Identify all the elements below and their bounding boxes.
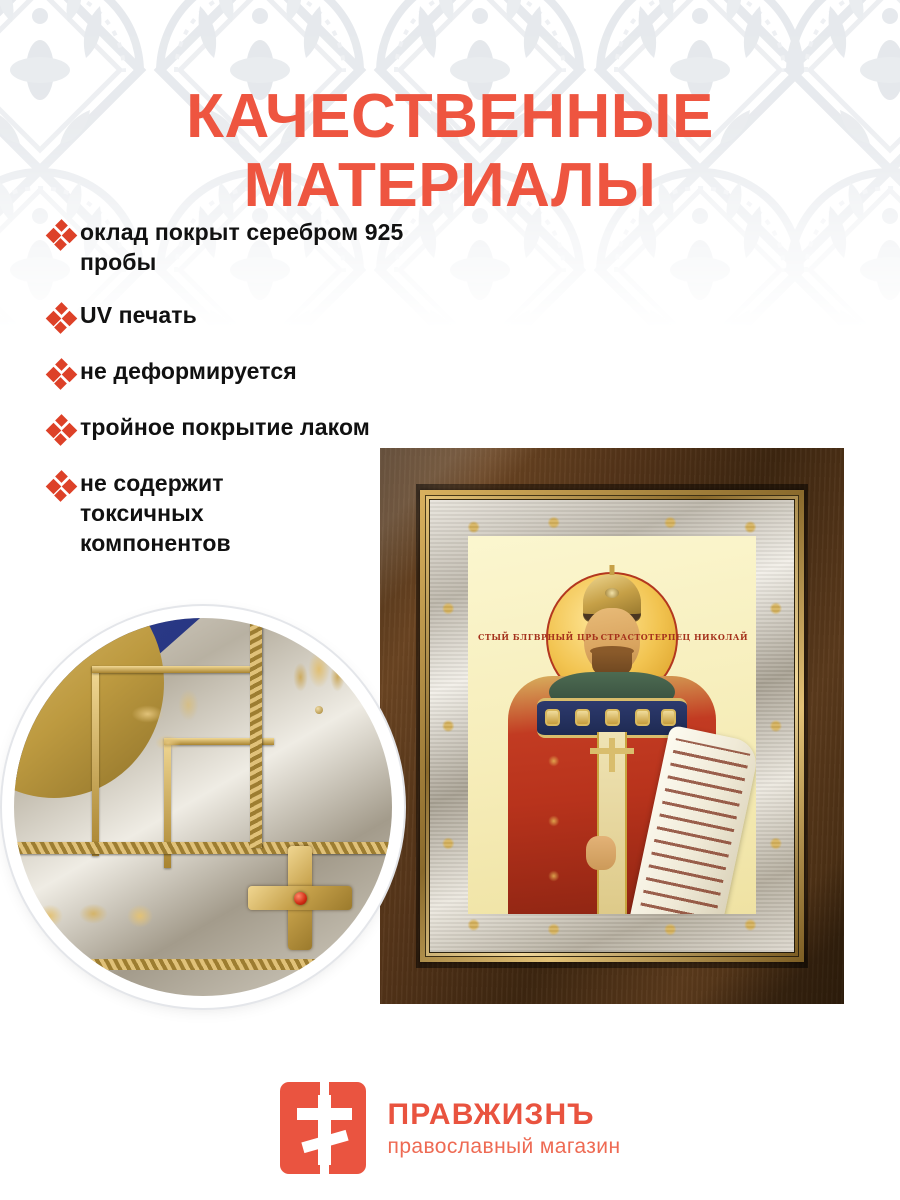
tulip-ornament [286, 642, 352, 720]
promo-banner: КАЧЕСТВЕННЫЕ МАТЕРИАЛЫ оклад покрыт сере… [0, 0, 900, 1200]
four-diamond-bullet-icon [46, 221, 80, 251]
list-item: UV печать [46, 301, 426, 334]
four-diamond-bullet-icon [46, 472, 80, 502]
list-item: тройное покрытие лаком [46, 413, 426, 446]
feature-text: UV печать [80, 301, 197, 331]
leaf-ornament [26, 888, 176, 944]
footer-logo[interactable]: ПРАВЖИЗНЪ православный магазин [0, 1082, 900, 1174]
magnified-detail-content [14, 618, 392, 996]
silver-oklad: СТЫЙ БЛГВРНЫЙ ЦРЬ СТРАСТОТЕРПЕЦ НИКОЛАЙ [430, 500, 794, 952]
feature-text: тройное покрытие лаком [80, 413, 370, 443]
page-title-line-2: МАТЕРИАЛЫ [0, 151, 900, 220]
feature-text: не содержит токсичных компонентов [80, 469, 295, 559]
page-title-line-1: КАЧЕСТВЕННЫЕ [186, 82, 714, 151]
brand-tagline: православный магазин [388, 1136, 621, 1157]
page-title: КАЧЕСТВЕННЫЕ МАТЕРИАЛЫ [0, 82, 900, 221]
gold-rope-border [250, 618, 262, 848]
acanthus-scroll-ornament [114, 678, 234, 768]
inscription-left: СТЫЙ БЛГВРНЫЙ ЦРЬ [478, 632, 599, 642]
list-item: не деформируется [46, 357, 426, 390]
gold-cross-ornament [244, 842, 356, 954]
brand-text: ПРАВЖИЗНЪ православный магазин [388, 1100, 621, 1157]
four-diamond-bullet-icon [46, 360, 80, 390]
orthodox-cross-logo-icon [280, 1082, 366, 1174]
gold-border-line [92, 666, 99, 856]
four-diamond-bullet-icon [46, 416, 80, 446]
product-photo: СТЫЙ БЛГВРНЫЙ ЦРЬ СТРАСТОТЕРПЕЦ НИКОЛАЙ [380, 448, 844, 1004]
list-item: не содержит токсичных компонентов [46, 469, 426, 559]
painted-icon-face: СТЫЙ БЛГВРНЫЙ ЦРЬ СТРАСТОТЕРПЕЦ НИКОЛАЙ [468, 536, 756, 914]
gold-rope-border [14, 959, 392, 970]
gold-border-line [92, 666, 262, 673]
four-diamond-bullet-icon [46, 304, 80, 334]
magnified-detail-circle [8, 612, 398, 1002]
stole [597, 732, 627, 914]
hand [586, 836, 616, 870]
red-gemstone [294, 892, 307, 905]
brand-name: ПРАВЖИЗНЪ [388, 1100, 621, 1130]
inscription-right: СТРАСТОТЕРПЕЦ НИКОЛАЙ [601, 632, 748, 642]
feature-text: не деформируется [80, 357, 297, 387]
feature-text: оклад покрыт серебром 925 пробы [80, 218, 426, 278]
feature-list: оклад покрыт серебром 925 пробы UV печат… [46, 218, 426, 581]
list-item: оклад покрыт серебром 925 пробы [46, 218, 426, 278]
